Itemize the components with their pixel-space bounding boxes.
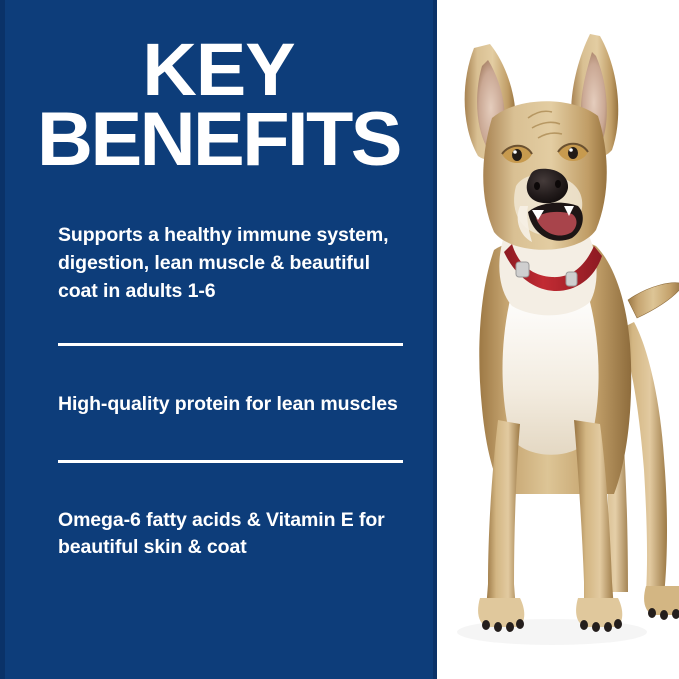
benefit-text: High-quality protein for lean muscles [58,391,404,419]
key-benefits-graphic: KEY BENEFITS Supports a healthy immune s… [0,0,679,679]
benefit-item-immune: Supports a healthy immune system, digest… [58,222,404,306]
collar-buckle [516,262,529,277]
benefit-text: Omega-6 fatty acids & Vitamin E for beau… [58,507,404,563]
benefit-item-protein: High-quality protein for lean muscles [58,391,404,419]
headline-line-benefits: BENEFITS [0,105,441,176]
dog-tail [628,283,679,318]
dog-photo [437,0,679,679]
benefit-text: Supports a healthy immune system, digest… [58,222,404,306]
page-title: KEY BENEFITS [0,36,441,175]
dog-illustration [437,0,679,679]
benefit-item-omega: Omega-6 fatty acids & Vitamin E for beau… [58,507,404,563]
headline-line-key: KEY [0,36,441,105]
benefits-panel: KEY BENEFITS Supports a healthy immune s… [0,0,437,679]
benefit-list: Supports a healthy immune system, digest… [58,222,404,562]
nostril-right [555,180,561,188]
collar-ring [566,272,577,286]
nostril-left [534,182,540,190]
benefit-divider [58,343,403,346]
benefit-divider [58,460,403,463]
